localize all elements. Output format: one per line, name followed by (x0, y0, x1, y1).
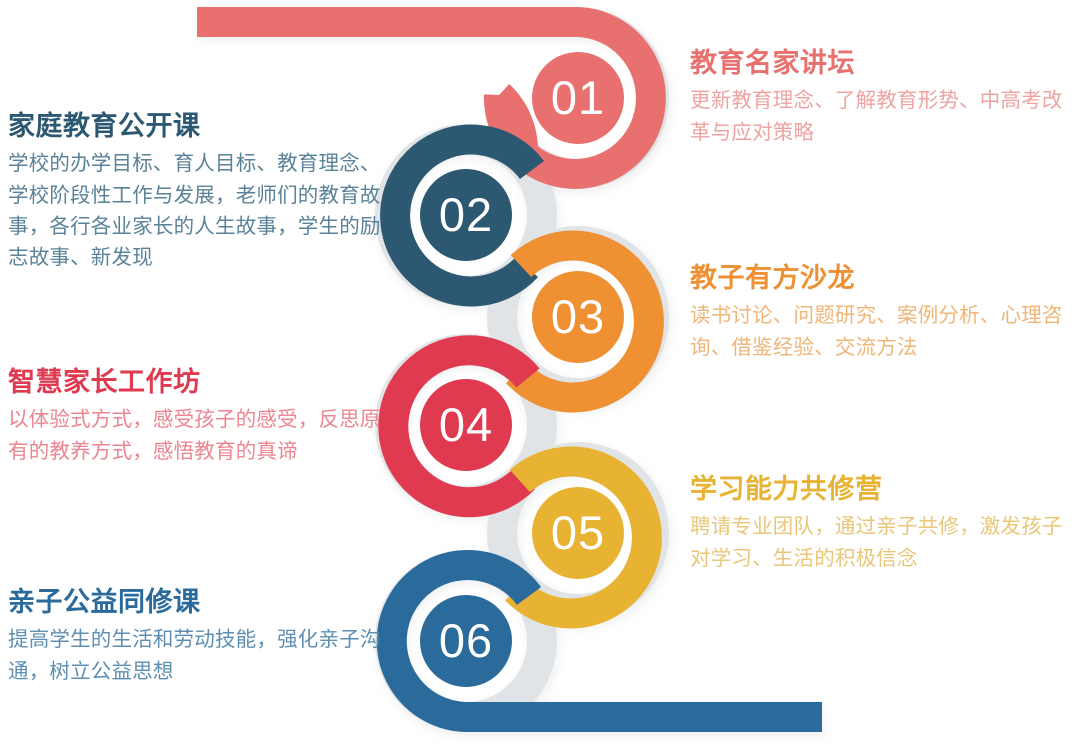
step-text-05: 学习能力共修营 聘请专业团队，通过亲子共修，激发孩子对学习、生活的积极信念 (690, 473, 1065, 574)
number-disc-05[interactable] (532, 487, 624, 579)
infographic-canvas: 01 02 03 04 05 06 教育名家讲坛 更新教育理念、了解教育形势、中… (0, 0, 1080, 749)
step-text-06: 亲子公益同修课 提高学生的生活和劳动技能，强化亲子沟通，树立公益思想 (8, 586, 383, 687)
step-text-02: 家庭教育公开课 学校的办学目标、育人目标、教育理念、学校阶段性工作与发展，老师们… (8, 110, 383, 273)
step-text-01: 教育名家讲坛 更新教育理念、了解教育形势、中高考改革与应对策略 (690, 47, 1065, 148)
step-body-03: 读书讨论、问题研究、案例分析、心理咨询、借鉴经验、交流方法 (690, 300, 1065, 362)
step-title-04: 智慧家长工作坊 (8, 366, 383, 398)
step-body-06: 提高学生的生活和劳动技能，强化亲子沟通，树立公益思想 (8, 624, 383, 686)
step-text-03: 教子有方沙龙 读书讨论、问题研究、案例分析、心理咨询、借鉴经验、交流方法 (690, 262, 1065, 363)
step-title-02: 家庭教育公开课 (8, 110, 383, 142)
number-disc-01[interactable] (532, 52, 624, 144)
number-disc-03[interactable] (532, 271, 624, 363)
step-body-02: 学校的办学目标、育人目标、教育理念、学校阶段性工作与发展，老师们的教育故事，各行… (8, 148, 383, 273)
number-disc-04[interactable] (420, 379, 512, 471)
number-disc-06[interactable] (420, 595, 512, 687)
step-body-04: 以体验式方式，感受孩子的感受，反思原有的教养方式，感悟教育的真谛 (8, 404, 383, 466)
step-body-01: 更新教育理念、了解教育形势、中高考改革与应对策略 (690, 85, 1065, 147)
step-title-03: 教子有方沙龙 (690, 262, 1065, 294)
step-body-05: 聘请专业团队，通过亲子共修，激发孩子对学习、生活的积极信念 (690, 511, 1065, 573)
step-title-05: 学习能力共修营 (690, 473, 1065, 505)
step-title-06: 亲子公益同修课 (8, 586, 383, 618)
step-title-01: 教育名家讲坛 (690, 47, 1065, 79)
number-disc-02[interactable] (420, 169, 512, 261)
step-text-04: 智慧家长工作坊 以体验式方式，感受孩子的感受，反思原有的教养方式，感悟教育的真谛 (8, 366, 383, 467)
